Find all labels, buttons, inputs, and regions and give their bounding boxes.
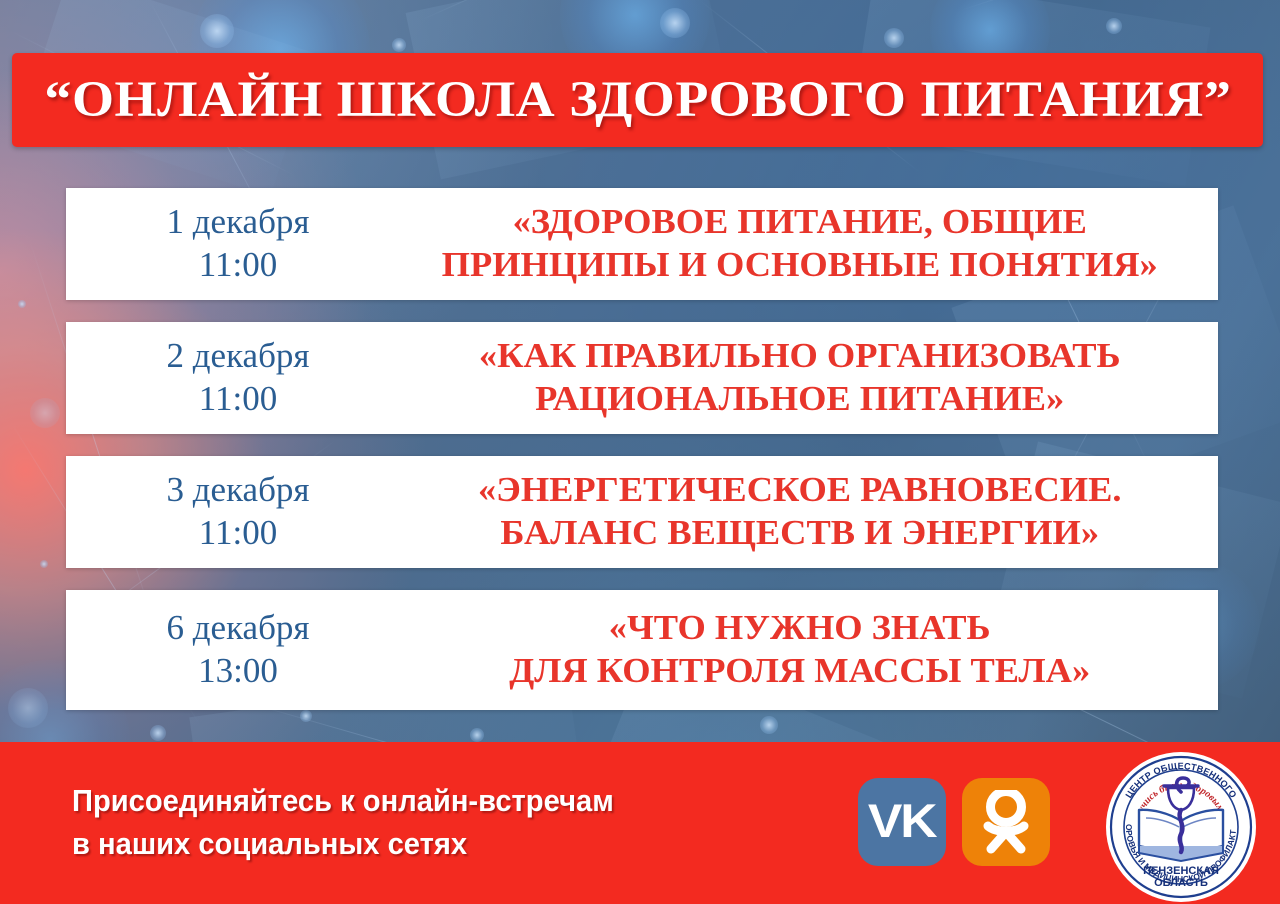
svg-text:ПЕНЗЕНСКАЯ: ПЕНЗЕНСКАЯ <box>1143 865 1219 877</box>
vk-icon-label: VK <box>868 793 935 848</box>
schedule-date: 6 декабря <box>80 607 396 650</box>
schedule-row: 2 декабря 11:00 «КАК ПРАВИЛЬНО ОРГАНИЗОВ… <box>66 322 1218 434</box>
schedule-topic-line1: «КАК ПРАВИЛЬНО ОРГАНИЗОВАТЬ <box>380 335 1220 378</box>
social-links: VK OK <box>858 778 1050 866</box>
schedule-datetime: 1 декабря 11:00 <box>66 201 396 286</box>
schedule-date: 1 декабря <box>80 201 396 244</box>
footer-bar: Присоединяйтесь к онлайн-встречам в наши… <box>0 742 1280 904</box>
poster-canvas: “ОНЛАЙН ШКОЛА ЗДОРОВОГО ПИТАНИЯ” 1 декаб… <box>0 0 1280 904</box>
schedule-date: 2 декабря <box>80 335 396 378</box>
schedule-topic: «ЧТО НУЖНО ЗНАТЬ ДЛЯ КОНТРОЛЯ МАССЫ ТЕЛА… <box>380 607 1235 692</box>
schedule-datetime: 6 декабря 13:00 <box>66 607 396 692</box>
schedule-date: 3 декабря <box>80 469 396 512</box>
schedule-topic: «ЗДОРОВОЕ ПИТАНИЕ, ОБЩИЕ ПРИНЦИПЫ И ОСНО… <box>380 201 1235 286</box>
schedule-time: 11:00 <box>80 244 396 287</box>
schedule-time: 11:00 <box>80 512 396 555</box>
schedule-time: 11:00 <box>80 378 396 421</box>
schedule-topic-line2: РАЦИОНАЛЬНОЕ ПИТАНИЕ» <box>380 378 1220 421</box>
schedule-topic: «КАК ПРАВИЛЬНО ОРГАНИЗОВАТЬ РАЦИОНАЛЬНОЕ… <box>380 335 1235 420</box>
ok-icon[interactable]: OK <box>962 778 1050 866</box>
footer-line-1: Присоединяйтесь к онлайн-встречам <box>72 780 614 823</box>
schedule-row: 6 декабря 13:00 «ЧТО НУЖНО ЗНАТЬ ДЛЯ КОН… <box>66 590 1218 710</box>
schedule-datetime: 3 декабря 11:00 <box>66 469 396 554</box>
page-title: “ОНЛАЙН ШКОЛА ЗДОРОВОГО ПИТАНИЯ” <box>44 71 1231 129</box>
schedule-topic-line1: «ЧТО НУЖНО ЗНАТЬ <box>380 607 1220 650</box>
vk-icon[interactable]: VK <box>858 778 946 866</box>
organization-emblem: ЦЕНТР ОБЩЕСТВЕННОГО ЗДОРОВЬЯ И МЕДИЦИНСК… <box>1106 752 1256 902</box>
schedule-row: 3 декабря 11:00 «ЭНЕРГЕТИЧЕСКОЕ РАВНОВЕС… <box>66 456 1218 568</box>
schedule-list: 1 декабря 11:00 «ЗДОРОВОЕ ПИТАНИЕ, ОБЩИЕ… <box>66 188 1218 710</box>
footer-line-2: в наших социальных сетях <box>72 823 614 866</box>
schedule-row: 1 декабря 11:00 «ЗДОРОВОЕ ПИТАНИЕ, ОБЩИЕ… <box>66 188 1218 300</box>
svg-text:ОБЛАСТЬ: ОБЛАСТЬ <box>1154 877 1208 889</box>
schedule-topic: «ЭНЕРГЕТИЧЕСКОЕ РАВНОВЕСИЕ. БАЛАНС ВЕЩЕС… <box>380 469 1235 554</box>
schedule-topic-line2: БАЛАНС ВЕЩЕСТВ И ЭНЕРГИИ» <box>380 512 1220 555</box>
schedule-datetime: 2 декабря 11:00 <box>66 335 396 420</box>
schedule-time: 13:00 <box>80 650 396 693</box>
poster-title-bar: “ОНЛАЙН ШКОЛА ЗДОРОВОГО ПИТАНИЯ” <box>12 53 1263 147</box>
schedule-topic-line2: ДЛЯ КОНТРОЛЯ МАССЫ ТЕЛА» <box>380 650 1220 693</box>
footer-call-to-action: Присоединяйтесь к онлайн-встречам в наши… <box>72 780 614 866</box>
schedule-topic-line1: «ЭНЕРГЕТИЧЕСКОЕ РАВНОВЕСИЕ. <box>380 469 1220 512</box>
schedule-topic-line1: «ЗДОРОВОЕ ПИТАНИЕ, ОБЩИЕ <box>380 201 1220 244</box>
schedule-topic-line2: ПРИНЦИПЫ И ОСНОВНЫЕ ПОНЯТИЯ» <box>380 244 1220 287</box>
